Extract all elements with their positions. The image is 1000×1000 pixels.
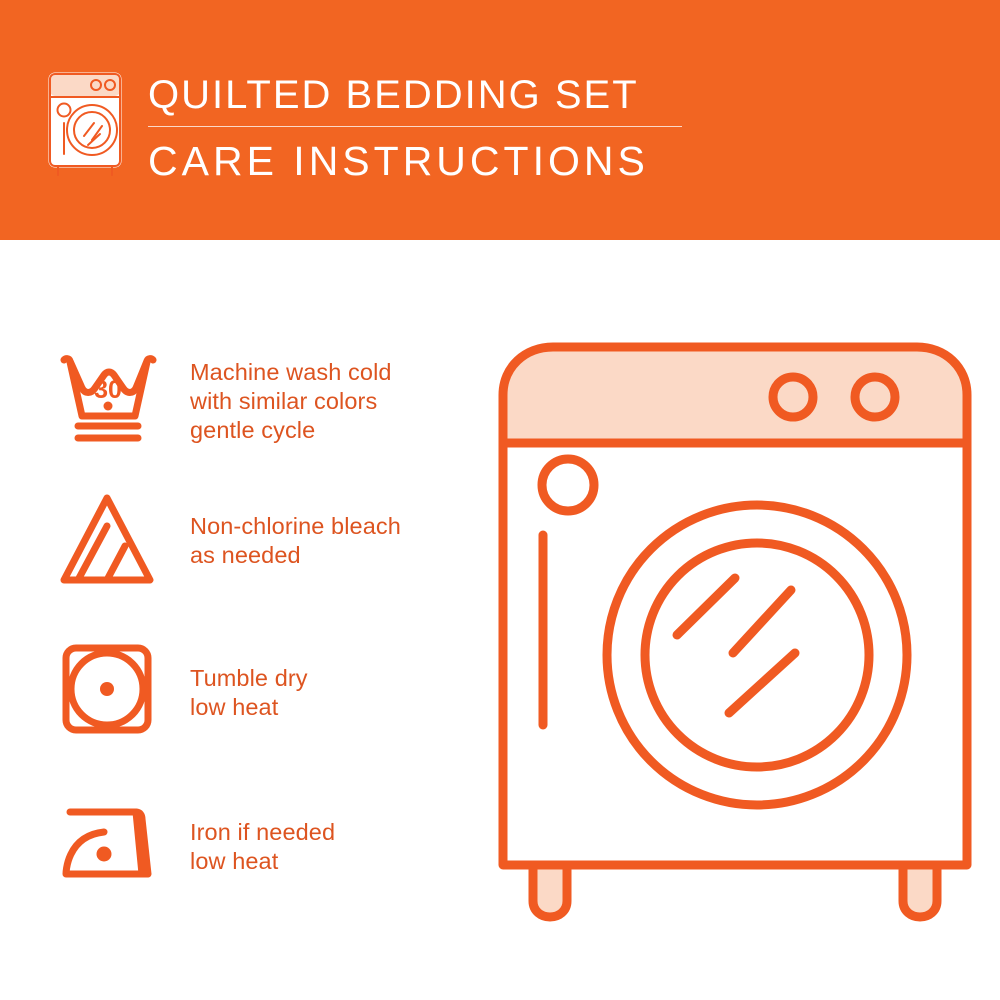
page-subtitle: CARE INSTRUCTIONS: [148, 135, 688, 187]
tumble-dry-icon: [52, 640, 164, 740]
care-item-iron: Iron if needed low heat: [52, 790, 482, 890]
bleach-triangle-icon: [52, 490, 164, 590]
door-outer-ring: [607, 505, 907, 805]
iron-icon: [52, 790, 164, 890]
washing-machine-icon: [44, 68, 136, 180]
wash-tub-icon: 30: [52, 348, 164, 448]
door-shine-lines: [677, 578, 795, 713]
leg-left: [533, 865, 567, 917]
care-item-machine-wash: 30 Machine wash cold with similar colors…: [52, 348, 482, 448]
header-banner: QUILTED BEDDING SET CARE INSTRUCTIONS: [0, 0, 1000, 240]
care-instruction-list: 30 Machine wash cold with similar colors…: [0, 240, 500, 1000]
page-title: QUILTED BEDDING SET: [148, 70, 688, 120]
leg-right: [903, 865, 937, 917]
header-title-group: QUILTED BEDDING SET CARE INSTRUCTIONS: [148, 70, 688, 187]
title-divider: [148, 126, 682, 127]
care-item-label: Iron if needed low heat: [190, 790, 335, 876]
care-item-label: Machine wash cold with similar colors ge…: [190, 348, 392, 445]
wash-temperature-label: 30: [94, 376, 122, 404]
care-item-bleach: Non-chlorine bleach as needed: [52, 490, 482, 590]
care-item-label: Non-chlorine bleach as needed: [190, 490, 401, 570]
care-item-tumble-dry: Tumble dry low heat: [52, 640, 482, 740]
care-item-label: Tumble dry low heat: [190, 640, 308, 722]
door-inner-ring: [645, 543, 869, 767]
indicator-button-icon: [542, 459, 594, 511]
washing-machine-illustration: [495, 335, 975, 925]
